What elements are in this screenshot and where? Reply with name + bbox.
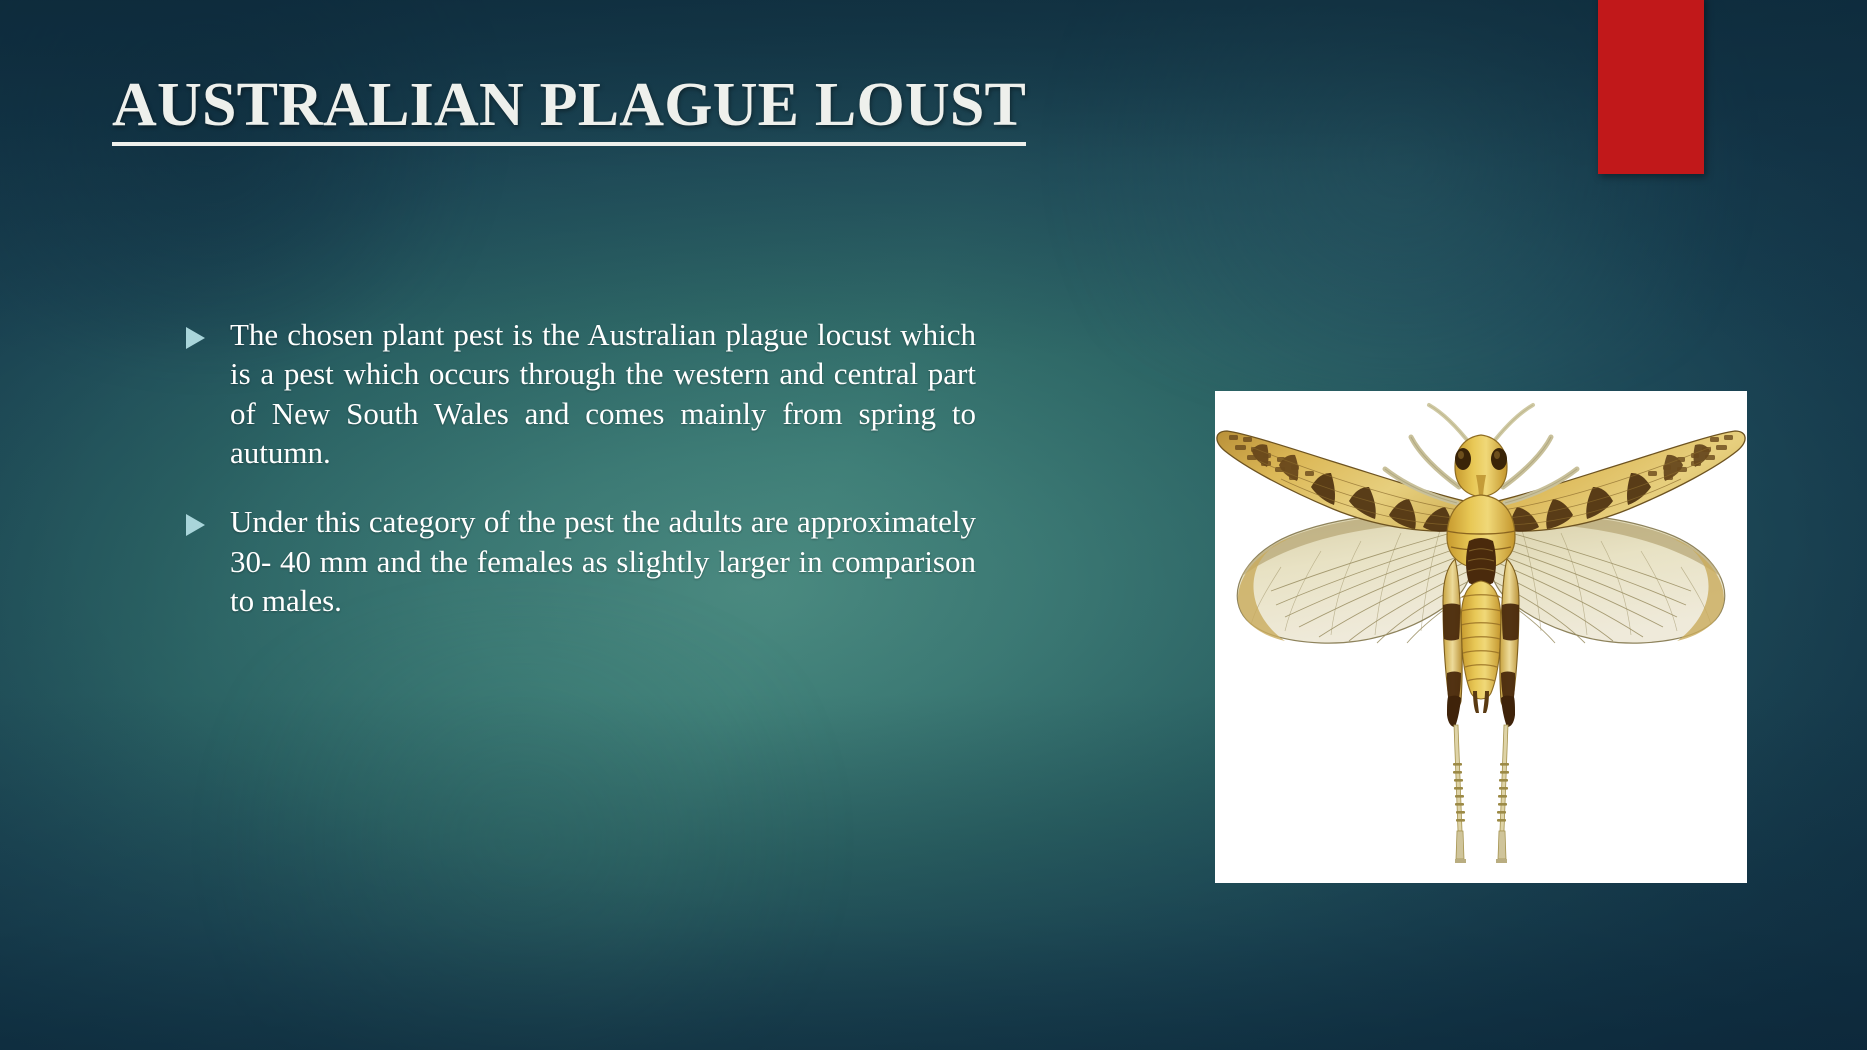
triangle-bullet-icon — [186, 514, 210, 536]
australian-plague-locust-image — [1215, 391, 1747, 883]
bullet-list: The chosen plant pest is the Australian … — [186, 315, 976, 621]
list-item-text: Under this category of the pest the adul… — [230, 502, 976, 620]
list-item-text: The chosen plant pest is the Australian … — [230, 315, 976, 472]
list-item: The chosen plant pest is the Australian … — [186, 315, 976, 472]
presentation-slide: AUSTRALIAN PLAGUE LOUST The chosen plant… — [0, 0, 1867, 1050]
triangle-bullet-icon — [186, 327, 210, 349]
list-item: Under this category of the pest the adul… — [186, 502, 976, 620]
slide-title-text: AUSTRALIAN PLAGUE LOUST — [112, 72, 1026, 146]
locust-illustration — [1215, 391, 1747, 883]
red-accent-bar — [1598, 0, 1704, 174]
slide-title: AUSTRALIAN PLAGUE LOUST — [112, 72, 1412, 146]
